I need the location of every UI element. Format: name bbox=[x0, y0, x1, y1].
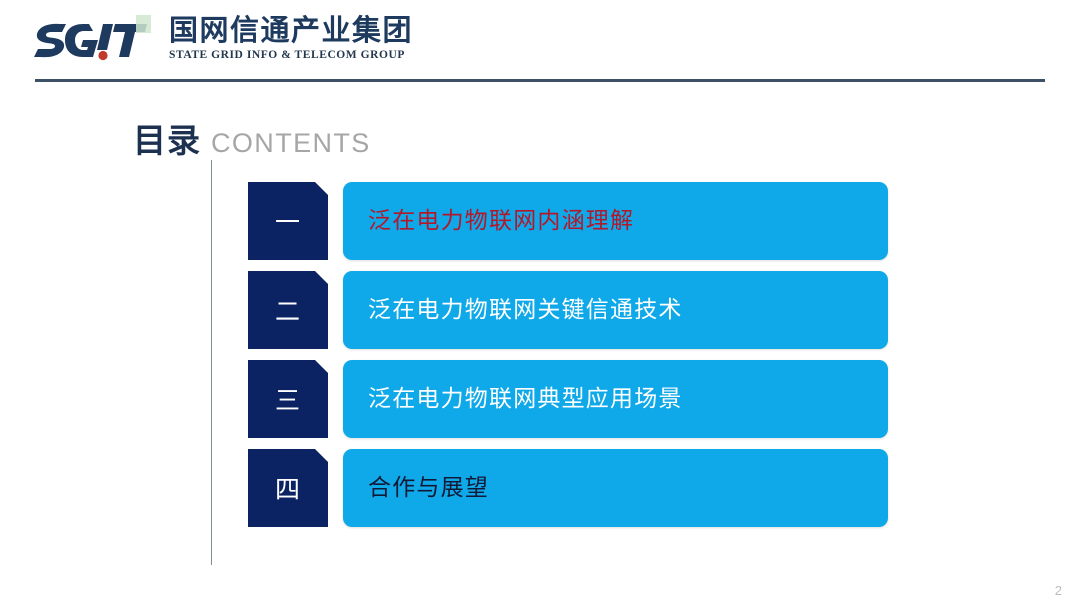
logo-green-accent-icon bbox=[136, 15, 151, 33]
page-title: 目录 CONTENTS bbox=[133, 124, 371, 157]
contents-vertical-rail bbox=[211, 160, 212, 565]
page-number: 2 bbox=[1055, 583, 1062, 598]
contents-item-bar-3[interactable]: 泛在电力物联网典型应用场景 bbox=[343, 360, 888, 438]
contents-item-label-2: 泛在电力物联网关键信通技术 bbox=[368, 299, 683, 322]
list-item[interactable]: 一 泛在电力物联网内涵理解 bbox=[248, 182, 888, 260]
company-name-en: STATE GRID INFO & TELECOM GROUP bbox=[169, 49, 413, 61]
header-divider bbox=[35, 79, 1045, 82]
list-item[interactable]: 四 合作与展望 bbox=[248, 449, 888, 527]
contents-item-bar-1[interactable]: 泛在电力物联网内涵理解 bbox=[343, 182, 888, 260]
contents-item-number-3: 三 bbox=[248, 360, 328, 438]
contents-item-number-4: 四 bbox=[248, 449, 328, 527]
page-title-cn: 目录 bbox=[133, 124, 201, 157]
slide-header: 国网信通产业集团 STATE GRID INFO & TELECOM GROUP bbox=[0, 0, 1080, 88]
contents-item-number-2: 二 bbox=[248, 271, 328, 349]
list-item[interactable]: 二 泛在电力物联网关键信通技术 bbox=[248, 271, 888, 349]
slide: 国网信通产业集团 STATE GRID INFO & TELECOM GROUP… bbox=[0, 0, 1080, 608]
company-name-block: 国网信通产业集团 STATE GRID INFO & TELECOM GROUP bbox=[169, 16, 413, 62]
page-title-en: CONTENTS bbox=[211, 130, 371, 157]
contents-item-bar-4[interactable]: 合作与展望 bbox=[343, 449, 888, 527]
company-name-cn: 国网信通产业集团 bbox=[169, 16, 413, 45]
contents-item-label-4: 合作与展望 bbox=[368, 477, 489, 500]
list-item[interactable]: 三 泛在电力物联网典型应用场景 bbox=[248, 360, 888, 438]
contents-item-bar-2[interactable]: 泛在电力物联网关键信通技术 bbox=[343, 271, 888, 349]
contents-list: 一 泛在电力物联网内涵理解 二 泛在电力物联网关键信通技术 三 泛在电力物联网典… bbox=[248, 182, 888, 527]
contents-item-number-1: 一 bbox=[248, 182, 328, 260]
contents-item-label-1: 泛在电力物联网内涵理解 bbox=[368, 210, 634, 233]
contents-item-label-3: 泛在电力物联网典型应用场景 bbox=[368, 388, 683, 411]
sgit-wordmark-icon bbox=[33, 14, 149, 62]
company-logo: 国网信通产业集团 STATE GRID INFO & TELECOM GROUP bbox=[33, 14, 413, 62]
